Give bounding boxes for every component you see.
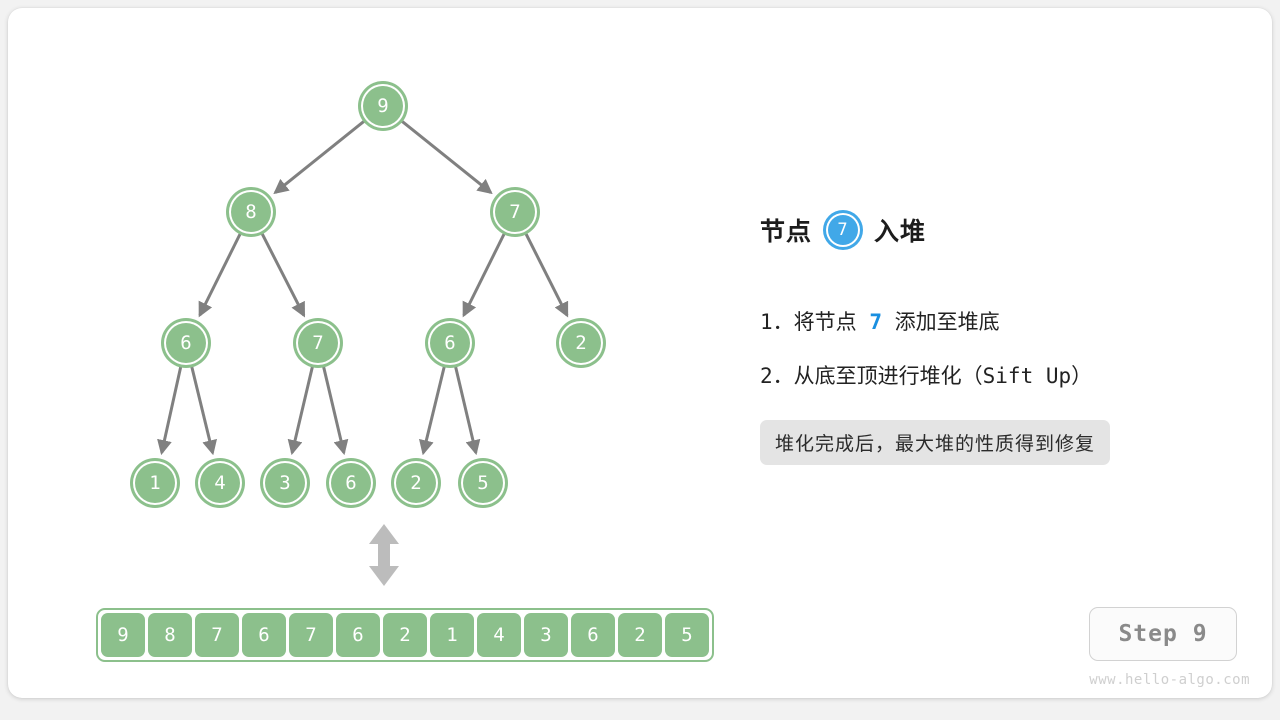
tree-edge [275, 121, 364, 193]
tree-node: 4 [198, 461, 242, 505]
panel-title-prefix: 节点 [760, 212, 812, 248]
tree-edge [402, 121, 491, 193]
array-cell: 7 [289, 613, 333, 657]
array-cell: 2 [618, 613, 662, 657]
array-cell: 7 [195, 613, 239, 657]
tree-edge [423, 366, 444, 453]
step-1-value: 7 [869, 310, 882, 334]
tree-edge [162, 366, 181, 452]
tree-node: 1 [133, 461, 177, 505]
array-cell: 3 [524, 613, 568, 657]
tree-edge [456, 366, 476, 452]
panel-title-suffix: 入堆 [874, 212, 926, 248]
tree-node: 2 [394, 461, 438, 505]
step-2-text: 2．从底至顶进行堆化（Sift Up） [760, 360, 1230, 390]
tree-edge [292, 366, 312, 452]
tree-node: 6 [329, 461, 373, 505]
array-cell: 9 [101, 613, 145, 657]
step-1-prefix: 1．将节点 [760, 310, 857, 334]
panel-title-badge: 7 [826, 213, 860, 247]
tree-node: 7 [493, 190, 537, 234]
array-cell: 6 [571, 613, 615, 657]
tree-node: 3 [263, 461, 307, 505]
array-cell: 6 [242, 613, 286, 657]
site-watermark: www.hello-algo.com [1089, 672, 1250, 688]
tree-node: 2 [559, 321, 603, 365]
tree-node: 6 [428, 321, 472, 365]
panel-title: 节点 7 入堆 [760, 208, 1230, 252]
tree-edge [526, 233, 567, 315]
step-1-text: 1．将节点 7 添加至堆底 [760, 306, 1230, 336]
array-cell: 8 [148, 613, 192, 657]
tree-edge [464, 233, 505, 315]
step-counter-badge: Step 9 [1089, 607, 1237, 661]
tree-edge [192, 366, 213, 453]
tree-node: 7 [296, 321, 340, 365]
tree-node: 8 [229, 190, 273, 234]
tree-edge [200, 233, 241, 315]
tree-diagram: 9876762143625 [8, 8, 748, 698]
array-cell: 4 [477, 613, 521, 657]
sync-double-arrow-icon [368, 524, 400, 586]
tree-node: 5 [461, 461, 505, 505]
tree-edge [324, 366, 344, 452]
screenshot-stage: 9876762143625 9876762143625 节点 7 入堆 1．将节… [0, 0, 1280, 720]
heap-array: 9876762143625 [96, 608, 714, 662]
array-cell: 5 [665, 613, 709, 657]
array-cell: 1 [430, 613, 474, 657]
explanation-panel: 节点 7 入堆 1．将节点 7 添加至堆底 2．从底至顶进行堆化（Sift Up… [760, 208, 1230, 465]
array-cell: 2 [383, 613, 427, 657]
step-1-suffix: 添加至堆底 [895, 310, 1000, 334]
result-note: 堆化完成后，最大堆的性质得到修复 [760, 420, 1110, 465]
content-card: 9876762143625 9876762143625 节点 7 入堆 1．将节… [8, 8, 1272, 698]
array-cell: 6 [336, 613, 380, 657]
tree-node: 6 [164, 321, 208, 365]
tree-edge [262, 233, 304, 315]
tree-node: 9 [361, 84, 405, 128]
